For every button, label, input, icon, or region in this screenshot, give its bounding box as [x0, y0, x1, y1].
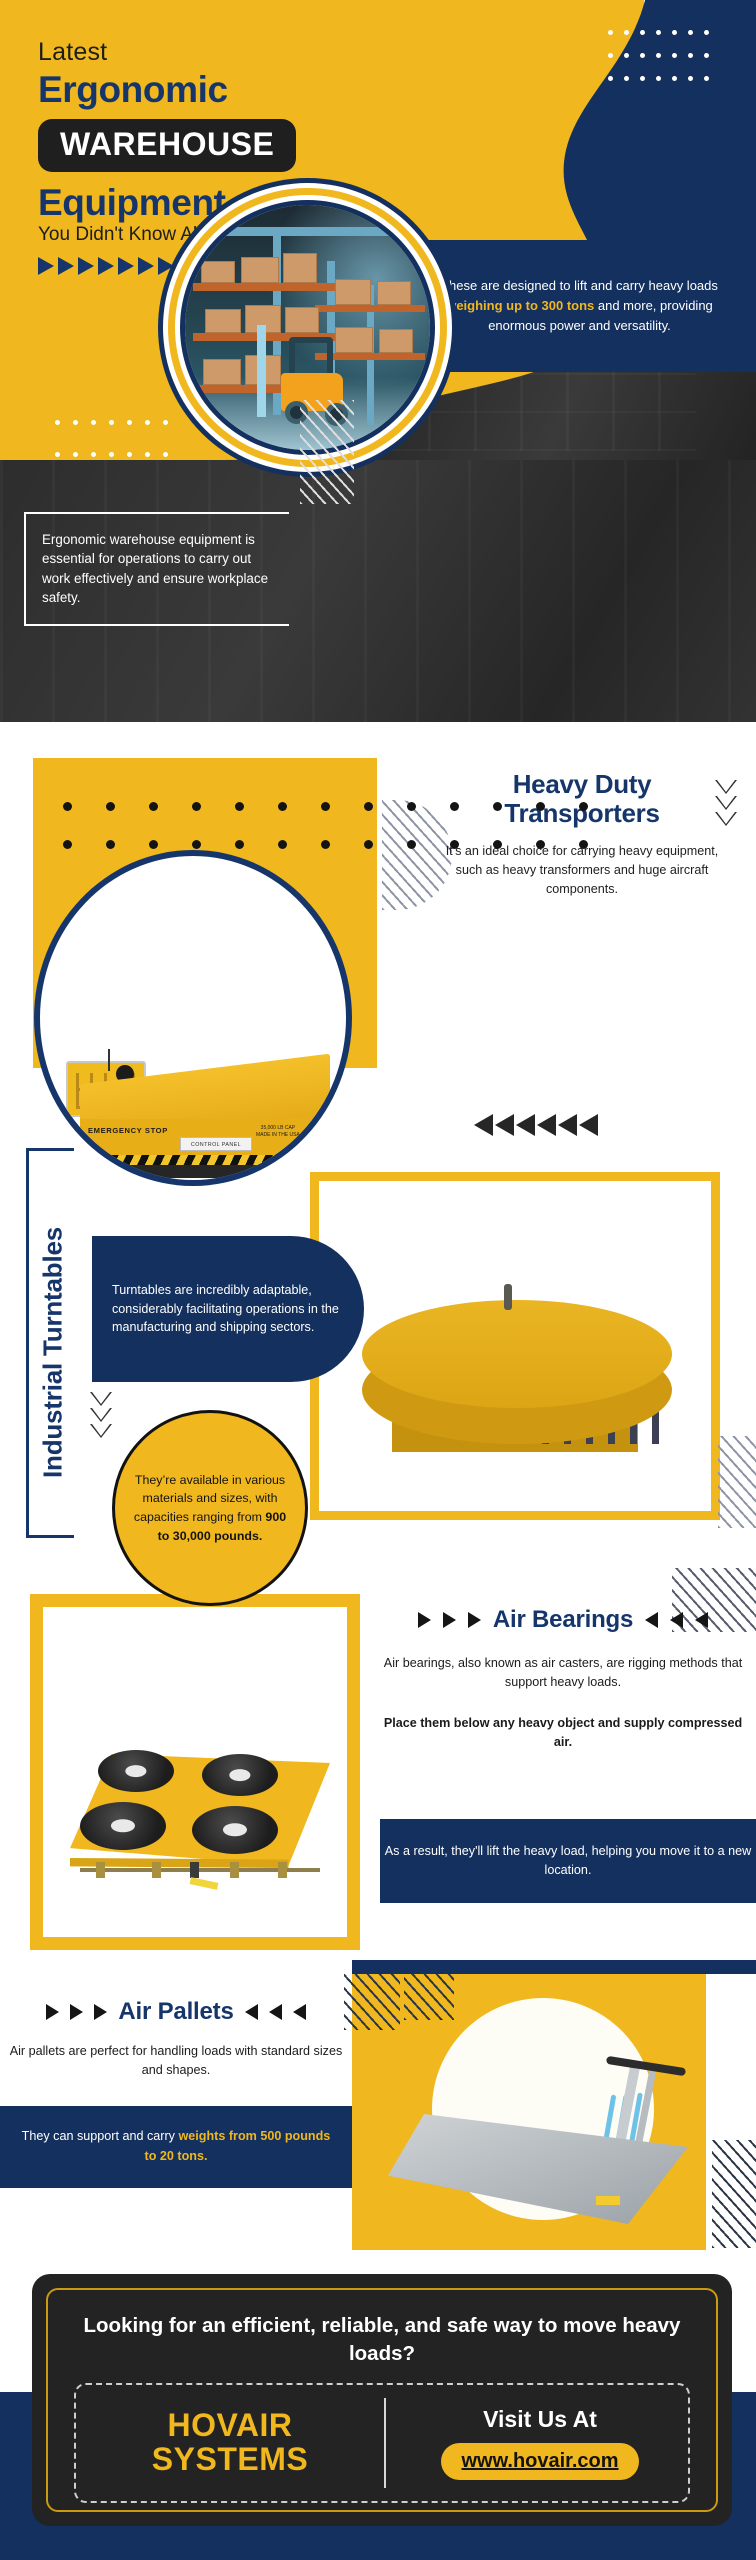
triangle-down-stack	[715, 780, 737, 826]
forklift-mast	[257, 325, 266, 417]
air-caster-disc	[192, 1806, 278, 1854]
section-air-pallets: Air Pallets Air pallets are perfect for …	[0, 1960, 756, 2250]
transporter-machine-photo: EMERGENCY STOP CONTROL PANEL 35,000 LB C…	[58, 1041, 346, 1181]
air-pallets-title-row: Air Pallets	[8, 1998, 344, 2026]
hero-title-line1: Ergonomic	[38, 69, 458, 111]
triangle-right-icon	[443, 1612, 456, 1628]
triangle-down-stack	[90, 1392, 112, 1438]
air-pallet-photo	[388, 2078, 718, 2238]
triangle-left-icon	[695, 1612, 708, 1628]
triangle-down-icon	[90, 1424, 112, 1438]
hero-bottom-divider	[0, 722, 756, 744]
triangle-down-icon	[715, 780, 737, 794]
air-bearings-title-row: Air Bearings	[380, 1606, 746, 1634]
cta-dashed-box: HOVAIR SYSTEMS Visit Us At www.hovair.co…	[74, 2383, 690, 2503]
hero-dot-grid-left	[55, 420, 181, 468]
cta-visit-block: Visit Us At www.hovair.com	[386, 2406, 688, 2480]
hero-intro-card: Ergonomic warehouse equipment is essenti…	[24, 512, 289, 626]
air-pallets-title: Air Pallets	[118, 1998, 233, 2026]
air-bearing-valve-handle	[190, 1877, 219, 1890]
cta-headline: Looking for an efficient, reliable, and …	[66, 2312, 698, 2367]
turntable-capacity-circle: They’re available in various materials a…	[112, 1410, 308, 1606]
air-bearings-title: Air Bearings	[493, 1606, 633, 1634]
air-pallets-text-block: Air Pallets Air pallets are perfect for …	[8, 1998, 344, 2080]
turntable-capacity-pre: They’re available in various materials a…	[134, 1473, 285, 1524]
air-pallet-navy-bar	[352, 1960, 756, 1974]
triangle-right-icon	[78, 257, 94, 275]
hero-dot-grid-top-right	[608, 30, 720, 99]
turntable-title: Industrial Turntables	[38, 1188, 69, 1518]
air-bearing-photo	[62, 1740, 342, 1890]
hatch-decor-pallet-c	[712, 2140, 756, 2248]
air-bearings-callout-text: As a result, they'll lift the heavy load…	[380, 1842, 756, 1880]
triangle-left-icon	[245, 2004, 258, 2020]
section-divider-arrows	[474, 1114, 598, 1136]
triangle-down-icon	[90, 1408, 112, 1422]
hatch-decor-hero	[300, 400, 354, 504]
transporter-spec-label: 35,000 LB CAPMADE IN THE USA	[256, 1125, 300, 1139]
triangle-right-icon	[138, 257, 154, 275]
section-industrial-turntables: Industrial Turntables Turntables are inc…	[0, 1140, 756, 1560]
air-bearings-text-block: Air Bearings Air bearings, also known as…	[380, 1606, 746, 1752]
hatch-decor-pallet-a	[344, 1974, 400, 2030]
triangle-left-icon	[293, 2004, 306, 2020]
hero-kicker: Latest	[38, 38, 458, 67]
emergency-stop-label: EMERGENCY STOP	[88, 1126, 168, 1135]
triangle-left-icon	[516, 1114, 535, 1136]
section-heavy-duty-transporters: EMERGENCY STOP CONTROL PANEL 35,000 LB C…	[0, 744, 756, 1140]
turntable-side-frame: Industrial Turntables	[26, 1148, 74, 1538]
triangle-right-icon	[46, 2004, 59, 2020]
transporter-photo-circle: EMERGENCY STOP CONTROL PANEL 35,000 LB C…	[34, 850, 352, 1186]
triangle-right-icon	[468, 1612, 481, 1628]
control-panel-label: CONTROL PANEL	[180, 1137, 252, 1151]
air-caster-disc	[98, 1750, 174, 1792]
triangle-left-icon	[474, 1114, 493, 1136]
air-caster-disc	[202, 1754, 278, 1796]
triangle-right-icon	[98, 257, 114, 275]
triangle-right-icon	[158, 257, 174, 275]
air-bearings-callout: As a result, they'll lift the heavy load…	[380, 1819, 756, 1903]
air-pallets-callout: They can support and carry weights from …	[0, 2106, 352, 2188]
transporter-callout-pre: These are designed to lift and carry hea…	[441, 278, 718, 293]
air-pallet-warning-tag	[596, 2196, 620, 2205]
hatch-decor-pallet-b	[404, 1974, 454, 2020]
triangle-left-icon	[579, 1114, 598, 1136]
triangle-right-icon	[38, 257, 54, 275]
air-caster-disc	[80, 1802, 166, 1850]
brand-line-1: HOVAIR	[76, 2409, 384, 2443]
cta-visit-label: Visit Us At	[392, 2406, 688, 2433]
triangle-down-icon	[715, 796, 737, 810]
triangle-left-icon	[558, 1114, 577, 1136]
triangle-right-icon	[70, 2004, 83, 2020]
air-bearings-bold-body: Place them below any heavy object and su…	[380, 1714, 746, 1752]
transporter-hose	[58, 1137, 84, 1185]
triangle-down-icon	[90, 1392, 112, 1406]
triangle-left-icon	[269, 2004, 282, 2020]
turntable-bubble-text: Turntables are incredibly adaptable, con…	[112, 1281, 342, 1338]
triangle-left-icon	[537, 1114, 556, 1136]
brand-logo: HOVAIR SYSTEMS	[76, 2409, 384, 2477]
triangle-left-icon	[670, 1612, 683, 1628]
cta-inner-frame: Looking for an efficient, reliable, and …	[46, 2288, 718, 2512]
cta-card: Looking for an efficient, reliable, and …	[32, 2274, 732, 2526]
triangle-right-icon	[118, 257, 134, 275]
infographic-page: Latest Ergonomic WAREHOUSE Equipment You…	[0, 0, 756, 2560]
hatch-decor-turntable	[718, 1436, 756, 1528]
air-pallets-body: Air pallets are perfect for handling loa…	[8, 2042, 344, 2080]
air-pallets-callout-pre: They can support and carry	[22, 2129, 179, 2143]
triangle-down-icon	[715, 812, 737, 826]
triangle-left-icon	[495, 1114, 514, 1136]
hero-title-pill: WAREHOUSE	[38, 119, 296, 172]
turntable-photo	[352, 1300, 682, 1480]
transporter-callout-highlight: weighing up to 300 tons	[446, 298, 594, 313]
hero-intro-text: Ergonomic warehouse equipment is essenti…	[42, 530, 275, 608]
section-air-bearings: Air Bearings Air bearings, also known as…	[0, 1560, 756, 1960]
triangle-right-icon	[94, 2004, 107, 2020]
triangle-left-icon	[645, 1612, 658, 1628]
triangle-right-icon	[418, 1612, 431, 1628]
air-bearings-body: Air bearings, also known as air casters,…	[380, 1654, 746, 1692]
turntable-bubble: Turntables are incredibly adaptable, con…	[92, 1236, 364, 1382]
cta-url-button[interactable]: www.hovair.com	[441, 2443, 638, 2480]
brand-line-2: SYSTEMS	[76, 2443, 384, 2477]
triangle-right-icon	[58, 257, 74, 275]
